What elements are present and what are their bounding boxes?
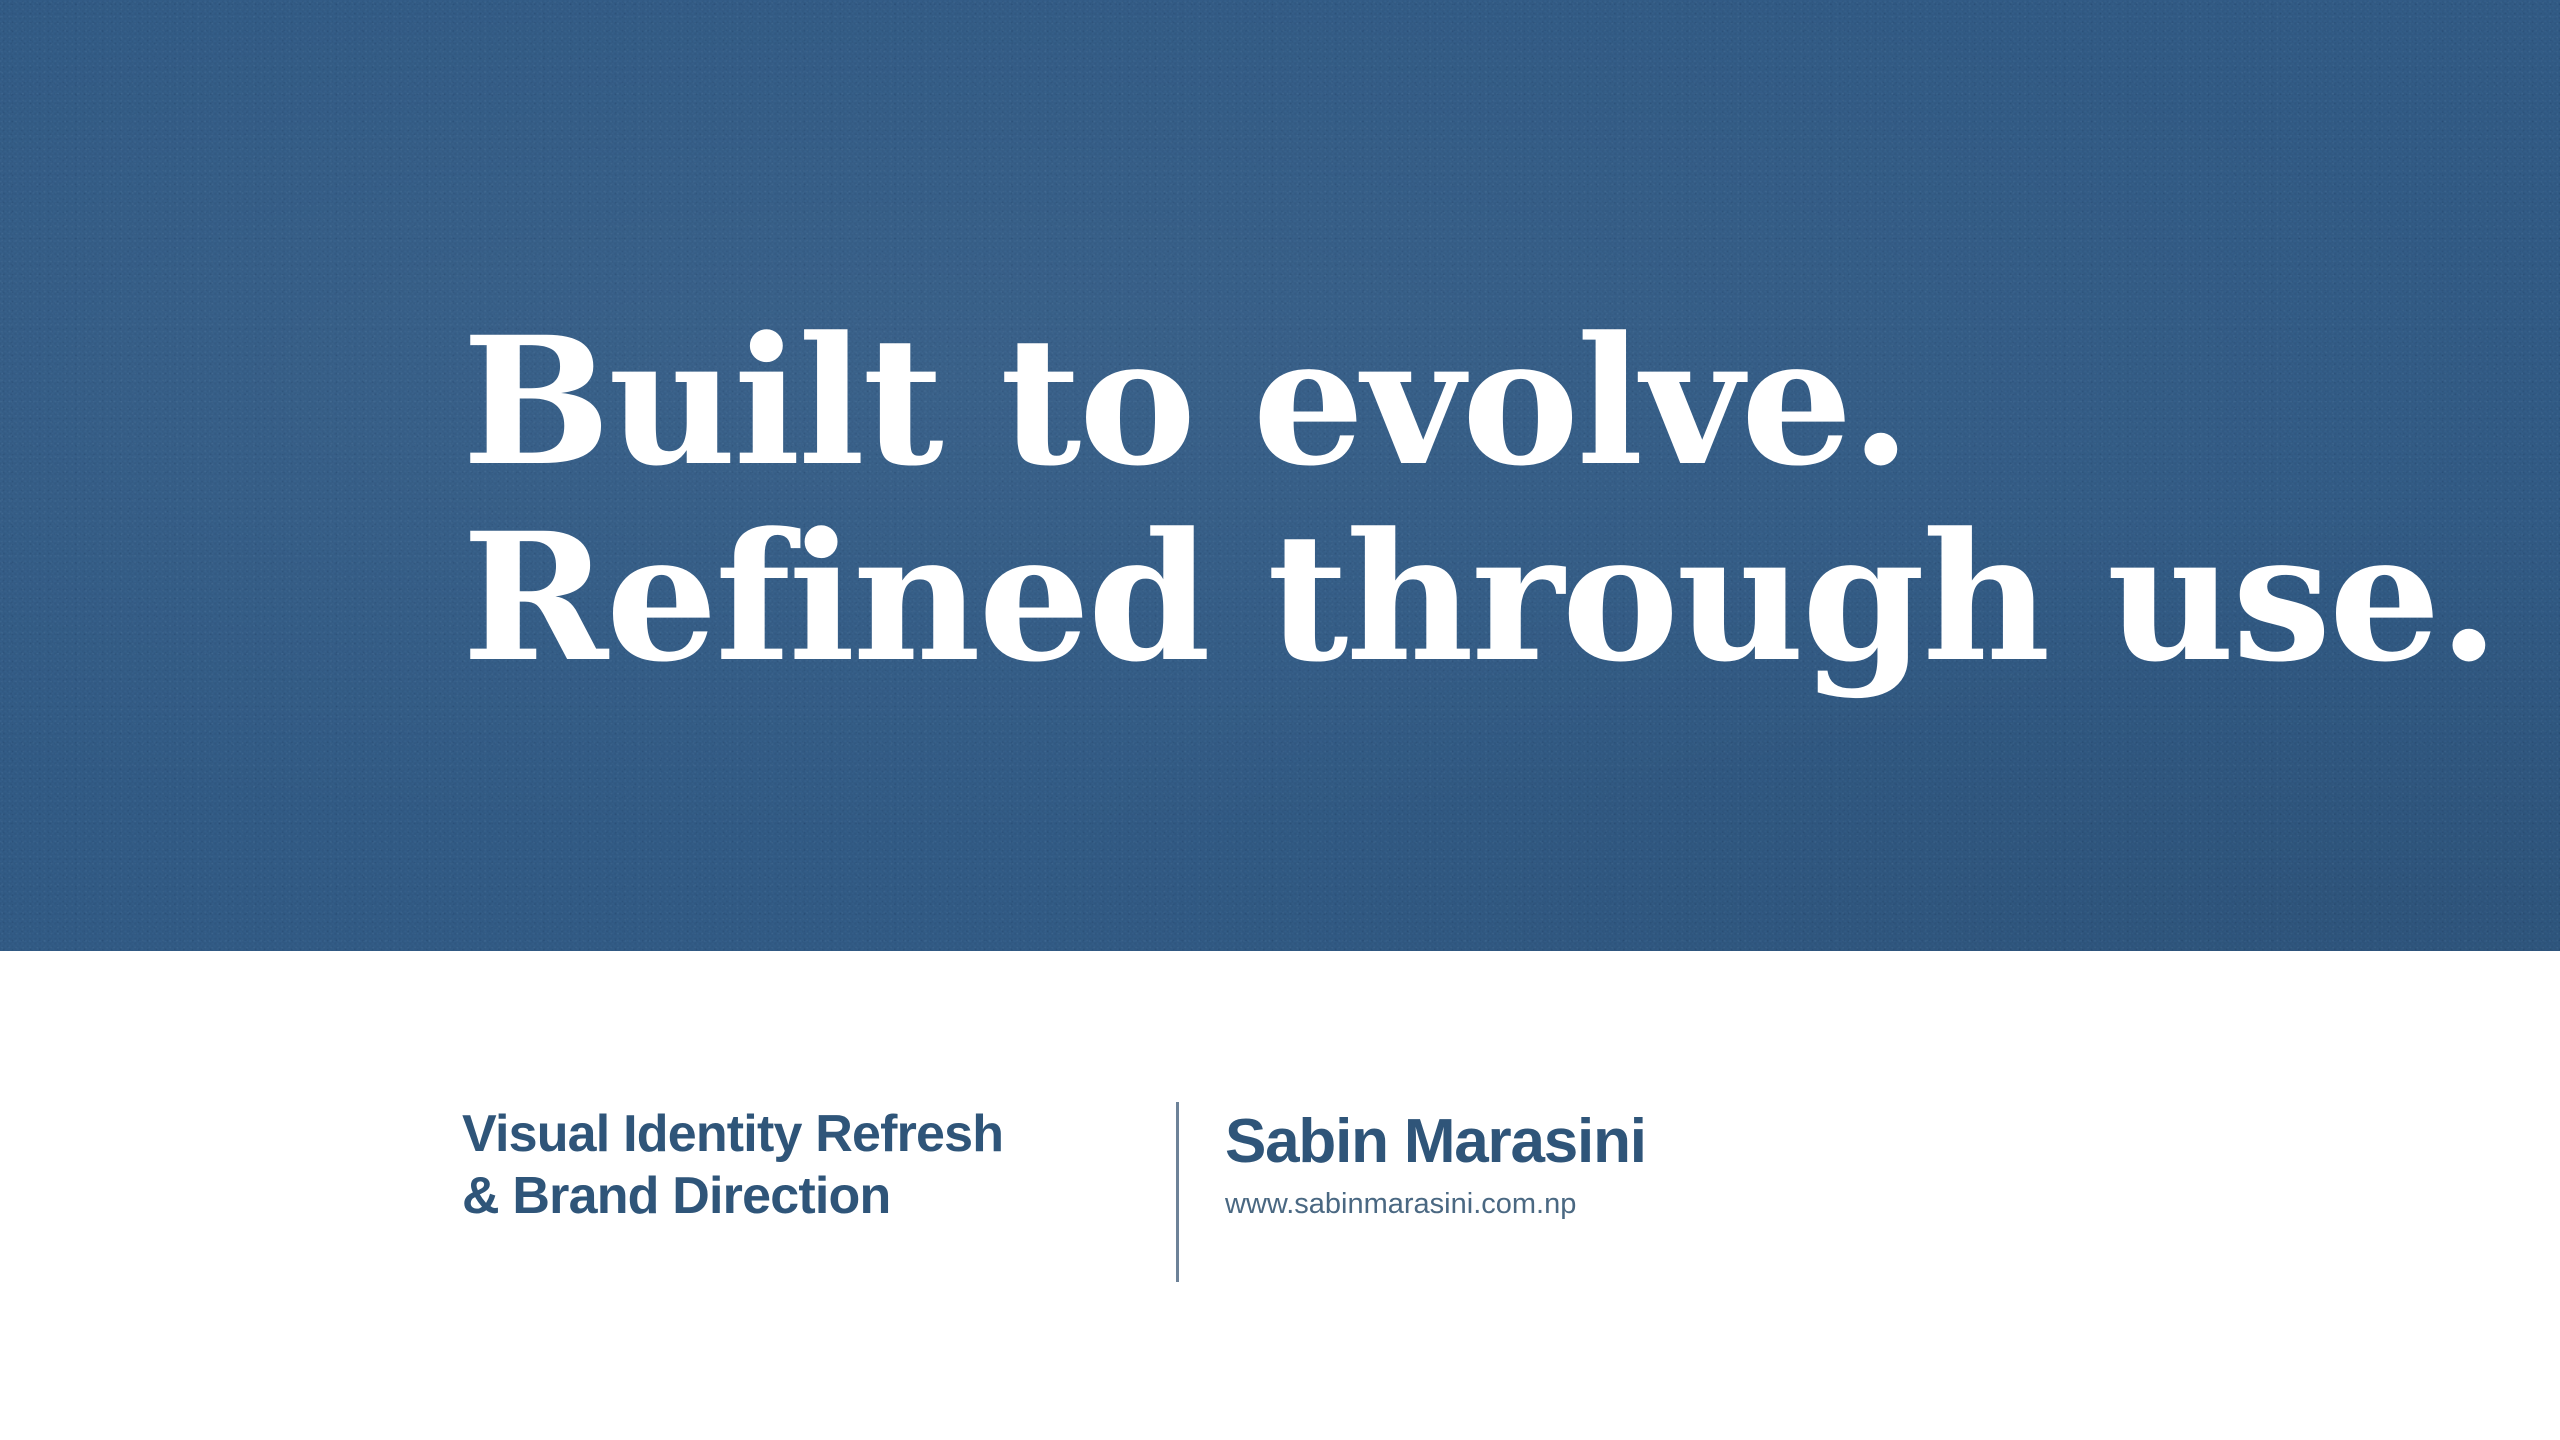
- footer-band: Visual Identity Refresh & Brand Directio…: [0, 951, 2560, 1440]
- project-title: Visual Identity Refresh & Brand Directio…: [462, 1103, 1152, 1228]
- headline-line-1: Built to evolve.: [462, 304, 2162, 500]
- author-website-url[interactable]: www.sabinmarasini.com.np: [1225, 1189, 1646, 1221]
- presentation-slide: Built to evolve. Refined through use. Vi…: [0, 0, 2560, 1440]
- author-name: Sabin Marasini: [1225, 1109, 1646, 1175]
- author-credit: Sabin Marasini www.sabinmarasini.com.np: [1225, 1103, 1646, 1221]
- headline: Built to evolve. Refined through use.: [462, 304, 2162, 696]
- vertical-divider: [1176, 1102, 1179, 1282]
- footer-content: Visual Identity Refresh & Brand Directio…: [462, 1103, 1646, 1282]
- project-title-line-2: & Brand Direction: [462, 1165, 1152, 1227]
- hero-band: Built to evolve. Refined through use.: [0, 0, 2560, 951]
- headline-line-2: Refined through use.: [462, 500, 2162, 696]
- project-title-line-1: Visual Identity Refresh: [462, 1103, 1152, 1165]
